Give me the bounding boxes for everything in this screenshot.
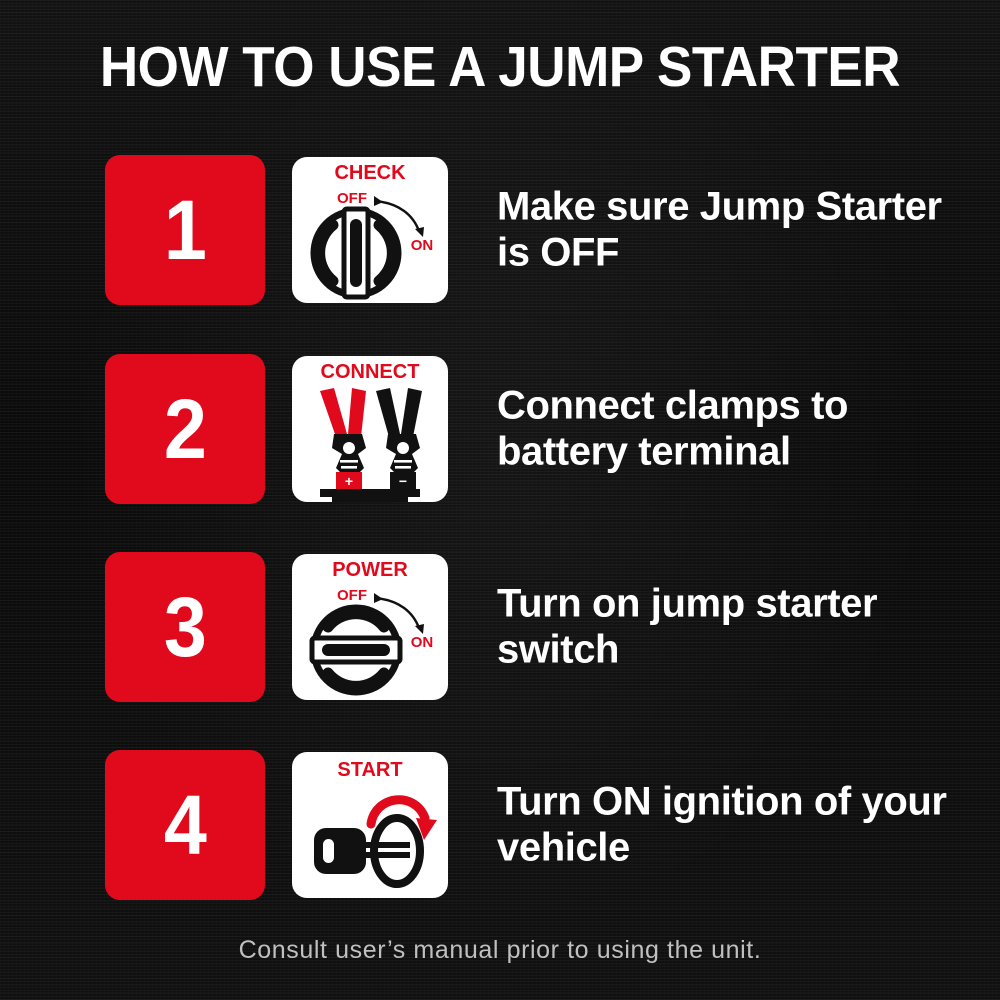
step-icon-card-4: START — [292, 752, 448, 898]
icon-label-off-3: OFF — [337, 587, 367, 604]
icon-heading-4: START — [337, 759, 402, 781]
terminal-positive-symbol: + — [345, 473, 353, 489]
step-number-badge-4: 4 — [105, 750, 265, 900]
arrowhead-right-3 — [415, 624, 424, 634]
step-row-3: 3 POWER OFF ON — [0, 552, 1000, 702]
rotary-knob-off-icon: CHECK OFF ON — [292, 157, 448, 303]
key-head — [314, 828, 366, 874]
ignition-key-icon: START — [292, 752, 448, 898]
step-number-badge-3: 3 — [105, 552, 265, 702]
terminal-negative-symbol: − — [399, 473, 407, 489]
icon-label-on-3: ON — [411, 634, 434, 651]
step-number-badge-1: 1 — [105, 155, 265, 305]
step-description-2: Connect clamps to battery terminal — [497, 383, 947, 474]
step-icon-card-1: CHECK OFF ON — [292, 157, 448, 303]
step-number-3: 3 — [164, 585, 207, 669]
step-icon-card-2: CONNECT — [292, 356, 448, 502]
knob-graphic-1 — [314, 209, 398, 297]
battery-clamps-icon: CONNECT — [292, 356, 448, 502]
step-row-2: 2 CONNECT — [0, 354, 1000, 504]
battery-top — [320, 489, 420, 497]
icon-label-off-1: OFF — [337, 190, 367, 207]
arrowhead-right-1 — [415, 227, 424, 237]
icon-heading-3: POWER — [332, 559, 408, 581]
knob-graphic-3 — [312, 608, 400, 692]
infographic-poster: HOW TO USE A JUMP STARTER 1 CHECK OFF ON — [0, 0, 1000, 1000]
battery-body — [332, 497, 408, 502]
key-hole — [323, 839, 334, 863]
icon-label-on-1: ON — [411, 237, 434, 254]
step-number-1: 1 — [164, 188, 207, 272]
step-description-3: Turn on jump starter switch — [497, 581, 947, 672]
step-description-4: Turn ON ignition of your vehicle — [497, 779, 947, 870]
icon-heading-2: CONNECT — [321, 361, 420, 383]
step-icon-card-3: POWER OFF ON — [292, 554, 448, 700]
step-number-badge-2: 2 — [105, 354, 265, 504]
icon-heading-1: CHECK — [334, 162, 406, 184]
step-description-1: Make sure Jump Starter is OFF — [497, 184, 947, 275]
ignition-ring — [374, 818, 420, 884]
step-row-1: 1 CHECK OFF ON — [0, 155, 1000, 305]
step-number-2: 2 — [164, 387, 207, 471]
step-number-4: 4 — [164, 783, 207, 867]
step-row-4: 4 START Tu — [0, 750, 1000, 900]
rotary-knob-on-icon: POWER OFF ON — [292, 554, 448, 700]
footer-disclaimer: Consult user’s manual prior to using the… — [0, 936, 1000, 965]
page-title: HOW TO USE A JUMP STARTER — [35, 34, 965, 100]
